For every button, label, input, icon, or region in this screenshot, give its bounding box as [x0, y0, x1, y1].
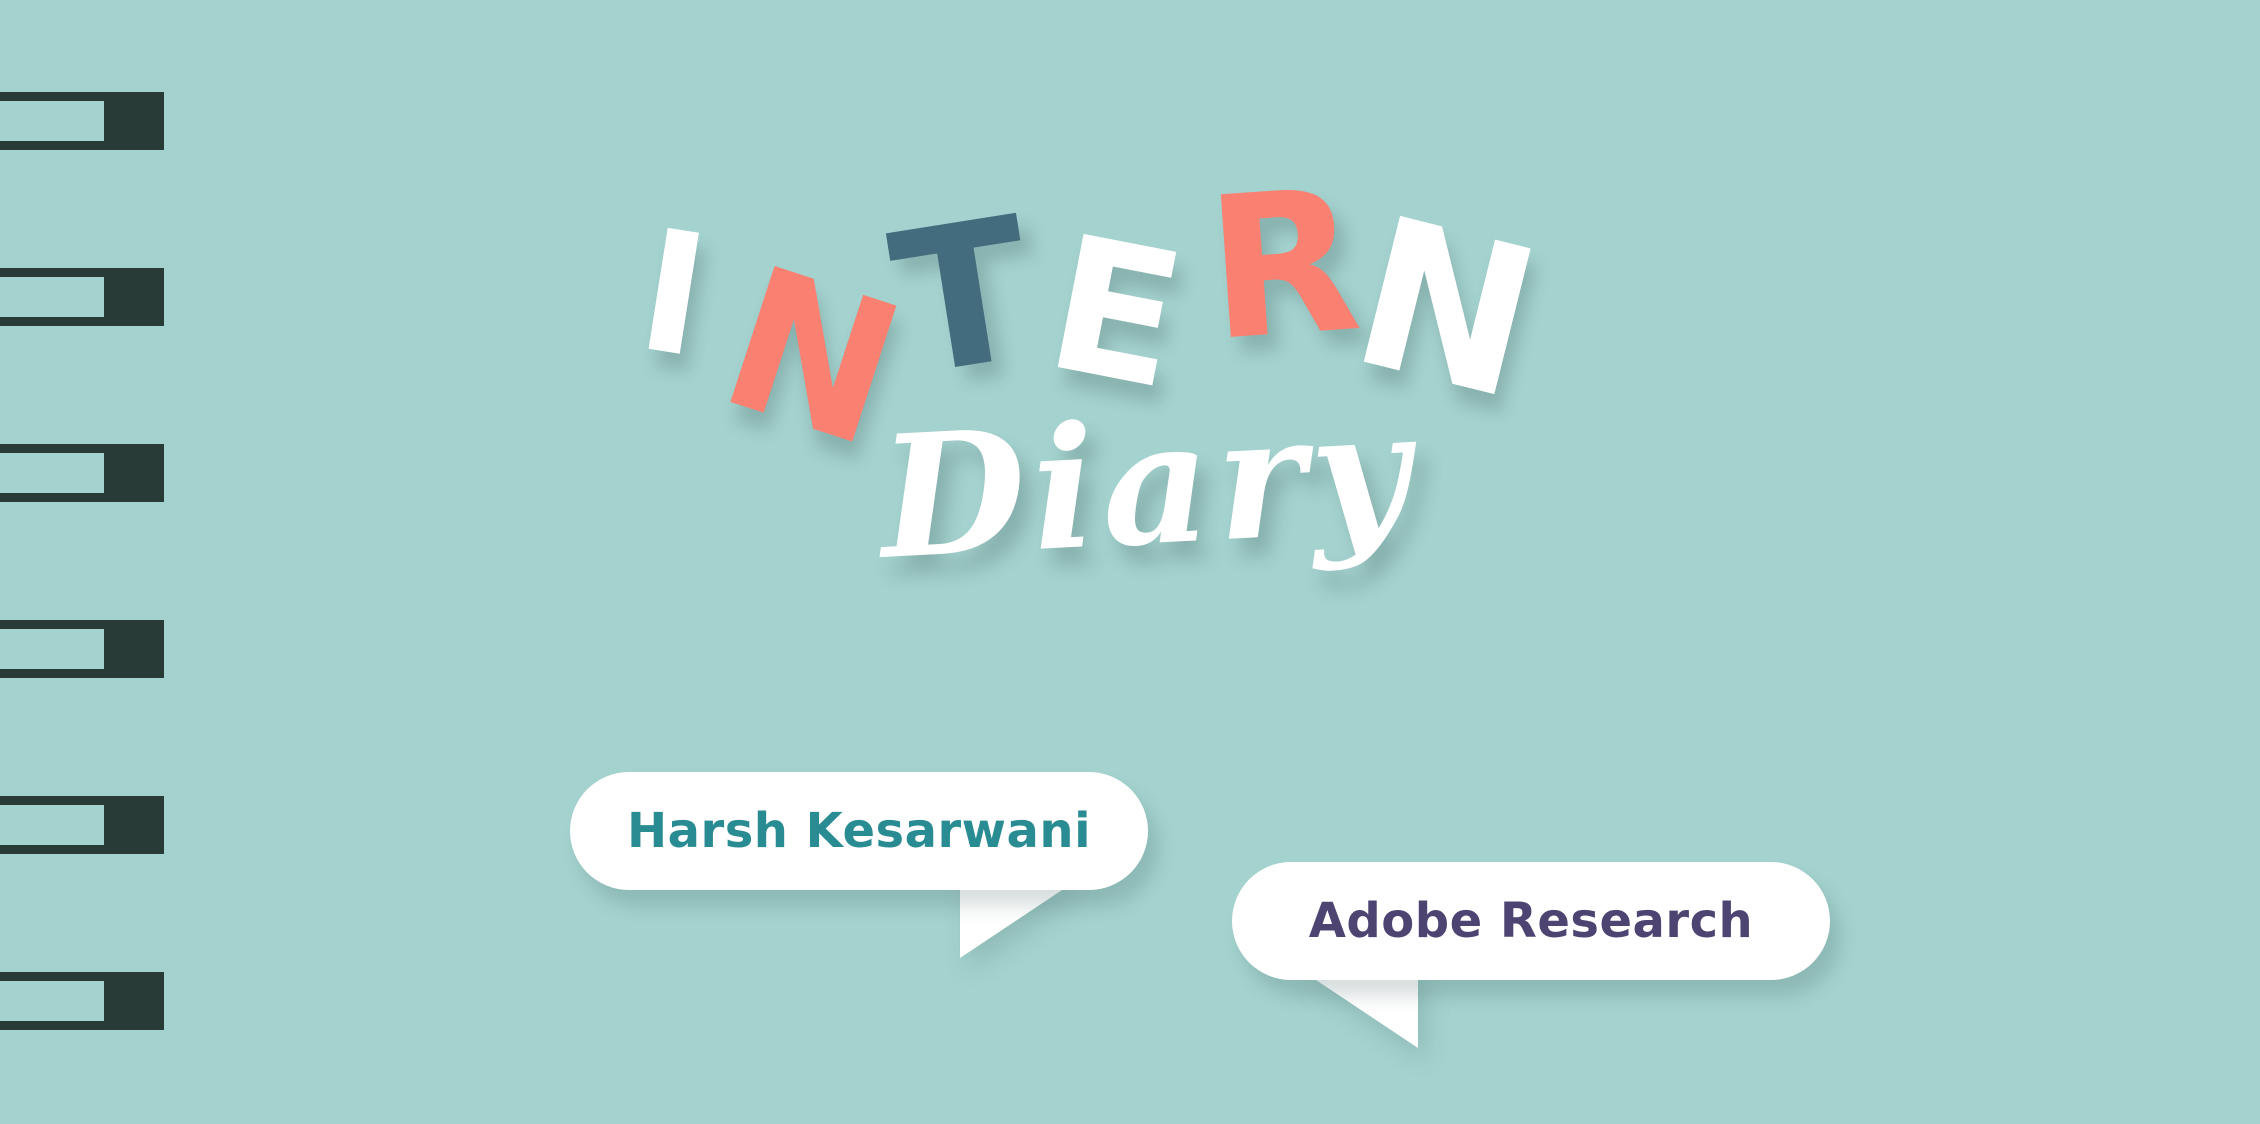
spiral-notebook-binding — [0, 0, 180, 1124]
speech-bubble-tail-name — [960, 878, 1080, 958]
binding-ring — [0, 796, 164, 854]
binding-ring-hole — [0, 629, 104, 669]
presenter-name-label: Harsh Kesarwani — [627, 803, 1091, 859]
speech-bubble-name[interactable]: Harsh Kesarwani — [570, 772, 1148, 890]
speech-bubble-organization[interactable]: Adobe Research — [1232, 862, 1830, 980]
binding-ring — [0, 972, 164, 1030]
organization-label: Adobe Research — [1309, 893, 1753, 949]
binding-ring — [0, 92, 164, 150]
page-subtitle: Diary — [876, 386, 1419, 582]
binding-ring — [0, 620, 164, 678]
title-letter-r: R — [1201, 163, 1365, 369]
binding-ring-hole — [0, 453, 104, 493]
binding-ring — [0, 444, 164, 502]
binding-ring-hole — [0, 277, 104, 317]
binding-ring-hole — [0, 981, 104, 1021]
binding-ring — [0, 268, 164, 326]
title-letter-i-1: I — [629, 206, 717, 382]
title-letter-t: T — [881, 191, 1044, 406]
binding-ring-hole — [0, 805, 104, 845]
speech-bubble-tail-organization — [1298, 968, 1418, 1048]
title-slide: I N T E R N Diary Harsh Kesarwani Adobe … — [0, 0, 2260, 1124]
binding-ring-hole — [0, 101, 104, 141]
